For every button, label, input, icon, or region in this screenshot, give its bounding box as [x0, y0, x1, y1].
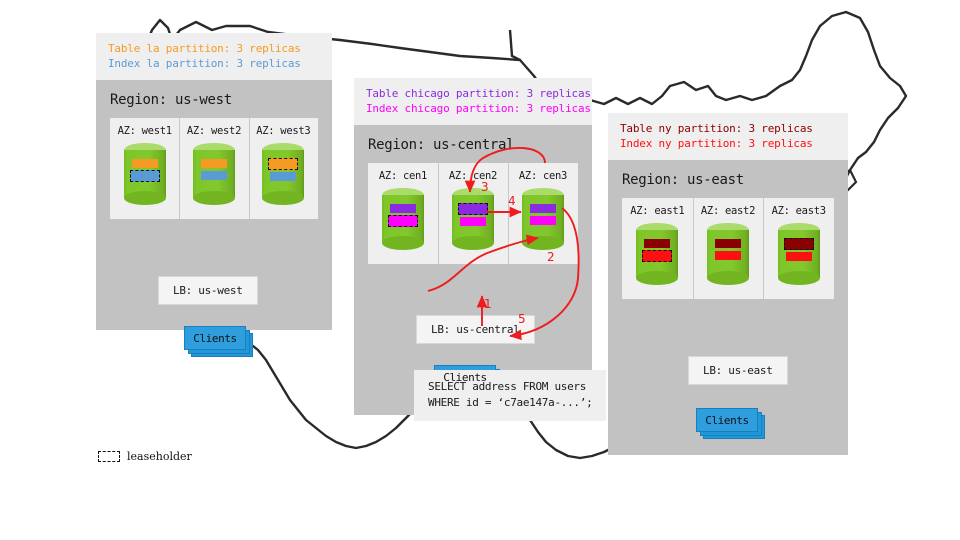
partition-header-us-central: Table chicago partition: 3 replicas Inde…: [354, 78, 592, 125]
step-number-3: 3: [481, 180, 489, 194]
index-partition-line: Index ny partition: 3 replicas: [620, 136, 836, 151]
region-panel-us-east: Table ny partition: 3 replicas Index ny …: [608, 113, 848, 455]
replica-bar-index: [270, 172, 296, 181]
replica-bar-table: [390, 204, 416, 213]
az-label: AZ: west2: [179, 125, 248, 137]
replica-bars: [382, 204, 424, 226]
node-cylinder[interactable]: [124, 143, 166, 205]
replica-bar-table: [132, 159, 158, 168]
region-title-us-central: Region: us-central: [354, 125, 592, 163]
node-cylinder[interactable]: [707, 223, 749, 285]
replica-bar-table: [715, 239, 741, 248]
az-label: AZ: east3: [763, 205, 834, 217]
az-label: AZ: west1: [110, 125, 179, 137]
az-east3[interactable]: AZ: east3: [763, 198, 834, 299]
cylinder-bottom: [262, 191, 304, 205]
clients-us-central[interactable]: Clients: [434, 365, 496, 389]
az-label: AZ: east2: [693, 205, 764, 217]
clients-label: Clients: [696, 408, 758, 432]
partition-header-us-west: Table la partition: 3 replicas Index la …: [96, 33, 332, 80]
clients-label: Clients: [184, 326, 246, 350]
replica-bars: [636, 239, 678, 261]
step-number-2: 2: [547, 250, 555, 264]
cylinder-bottom: [522, 236, 564, 250]
table-partition-line: Table ny partition: 3 replicas: [620, 121, 836, 136]
region-body-us-west: Region: us-west AZ: west1 AZ:: [96, 80, 332, 330]
replica-bar-index: [786, 252, 812, 261]
replica-bars: [262, 159, 304, 181]
region-panel-us-west: Table la partition: 3 replicas Index la …: [96, 33, 332, 330]
node-cylinder[interactable]: [193, 143, 235, 205]
replica-bar-index-leaseholder: [388, 215, 418, 227]
replica-bar-table-leaseholder: [458, 203, 488, 215]
replica-bar-table: [644, 239, 670, 248]
legend-label: leaseholder: [127, 450, 192, 463]
replica-bars: [522, 204, 564, 225]
clients-us-east[interactable]: Clients: [696, 408, 758, 432]
replica-bars: [193, 159, 235, 180]
load-balancer-us-central[interactable]: LB: us-central: [416, 315, 535, 344]
az-east1[interactable]: AZ: east1: [622, 198, 693, 299]
replica-bars: [452, 204, 494, 226]
cylinder-bottom: [193, 191, 235, 205]
replica-bars: [707, 239, 749, 260]
cylinder-bottom: [636, 271, 678, 285]
replica-bar-table: [201, 159, 227, 168]
az-label: AZ: west3: [249, 125, 318, 137]
legend-leaseholder: leaseholder: [98, 450, 192, 463]
az-west1[interactable]: AZ: west1: [110, 118, 179, 219]
az-cen2[interactable]: AZ: cen2: [438, 163, 508, 264]
region-title-us-west: Region: us-west: [96, 80, 332, 118]
clients-us-west[interactable]: Clients: [184, 326, 246, 350]
load-balancer-us-east[interactable]: LB: us-east: [688, 356, 788, 385]
index-partition-line: Index chicago partition: 3 replicas: [366, 101, 580, 116]
az-label: AZ: cen1: [368, 170, 438, 182]
replica-bar-table-leaseholder: [268, 158, 298, 170]
region-body-us-east: Region: us-east AZ: east1 AZ:: [608, 160, 848, 455]
cylinder-bottom: [382, 236, 424, 250]
sql-line-2: WHERE id = ‘c7ae147a-...’;: [428, 395, 592, 411]
az-row-us-east: AZ: east1 AZ: east2: [622, 198, 834, 299]
az-label: AZ: east1: [622, 205, 693, 217]
leaseholder-icon: [98, 451, 120, 462]
replica-bar-table: [530, 204, 556, 213]
replica-bars: [124, 159, 166, 181]
node-cylinder[interactable]: [262, 143, 304, 205]
replica-bar-index: [530, 216, 556, 225]
replica-bar-index: [460, 217, 486, 226]
az-row-us-west: AZ: west1 AZ: west2: [110, 118, 318, 219]
table-partition-line: Table la partition: 3 replicas: [108, 41, 320, 56]
diagram-stage: Table la partition: 3 replicas Index la …: [0, 0, 960, 540]
load-balancer-us-west[interactable]: LB: us-west: [158, 276, 258, 305]
az-west3[interactable]: AZ: west3: [249, 118, 318, 219]
node-cylinder[interactable]: [522, 188, 564, 250]
cylinder-bottom: [124, 191, 166, 205]
region-panel-us-central: Table chicago partition: 3 replicas Inde…: [354, 78, 592, 415]
az-cen1[interactable]: AZ: cen1: [368, 163, 438, 264]
clients-label: Clients: [434, 365, 496, 389]
cylinder-bottom: [707, 271, 749, 285]
cylinder-bottom: [778, 271, 820, 285]
node-cylinder[interactable]: [636, 223, 678, 285]
step-number-4: 4: [508, 194, 516, 208]
replica-bar-index: [201, 171, 227, 180]
index-partition-line: Index la partition: 3 replicas: [108, 56, 320, 71]
node-cylinder[interactable]: [778, 223, 820, 285]
node-cylinder[interactable]: [452, 188, 494, 250]
az-label: AZ: cen3: [508, 170, 578, 182]
region-title-us-east: Region: us-east: [608, 160, 848, 198]
step-number-1: 1: [484, 297, 492, 311]
replica-bar-index-leaseholder: [642, 250, 672, 262]
az-row-us-central: AZ: cen1 AZ: cen2: [368, 163, 578, 264]
replica-bar-table-leaseholder: [784, 238, 814, 250]
step-number-5: 5: [518, 312, 526, 326]
replica-bars: [778, 239, 820, 261]
replica-bar-index: [715, 251, 741, 260]
az-east2[interactable]: AZ: east2: [693, 198, 764, 299]
az-label: AZ: cen2: [438, 170, 508, 182]
node-cylinder[interactable]: [382, 188, 424, 250]
replica-bar-index-leaseholder: [130, 170, 160, 182]
table-partition-line: Table chicago partition: 3 replicas: [366, 86, 580, 101]
az-cen3[interactable]: AZ: cen3: [508, 163, 578, 264]
cylinder-bottom: [452, 236, 494, 250]
partition-header-us-east: Table ny partition: 3 replicas Index ny …: [608, 113, 848, 160]
az-west2[interactable]: AZ: west2: [179, 118, 248, 219]
